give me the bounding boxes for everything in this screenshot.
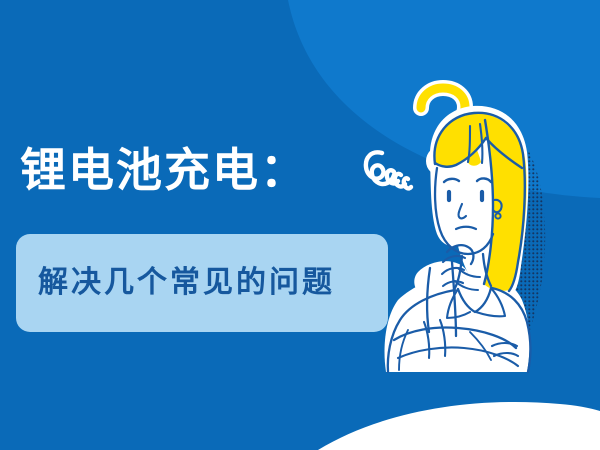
thinking-woman-illustration bbox=[0, 0, 600, 450]
page-title: 锂电池充电： bbox=[20, 143, 308, 197]
poster-canvas: 解决几个常见的问题 锂电池充电： bbox=[0, 0, 600, 450]
thinking-squiggle-icon bbox=[366, 152, 411, 188]
